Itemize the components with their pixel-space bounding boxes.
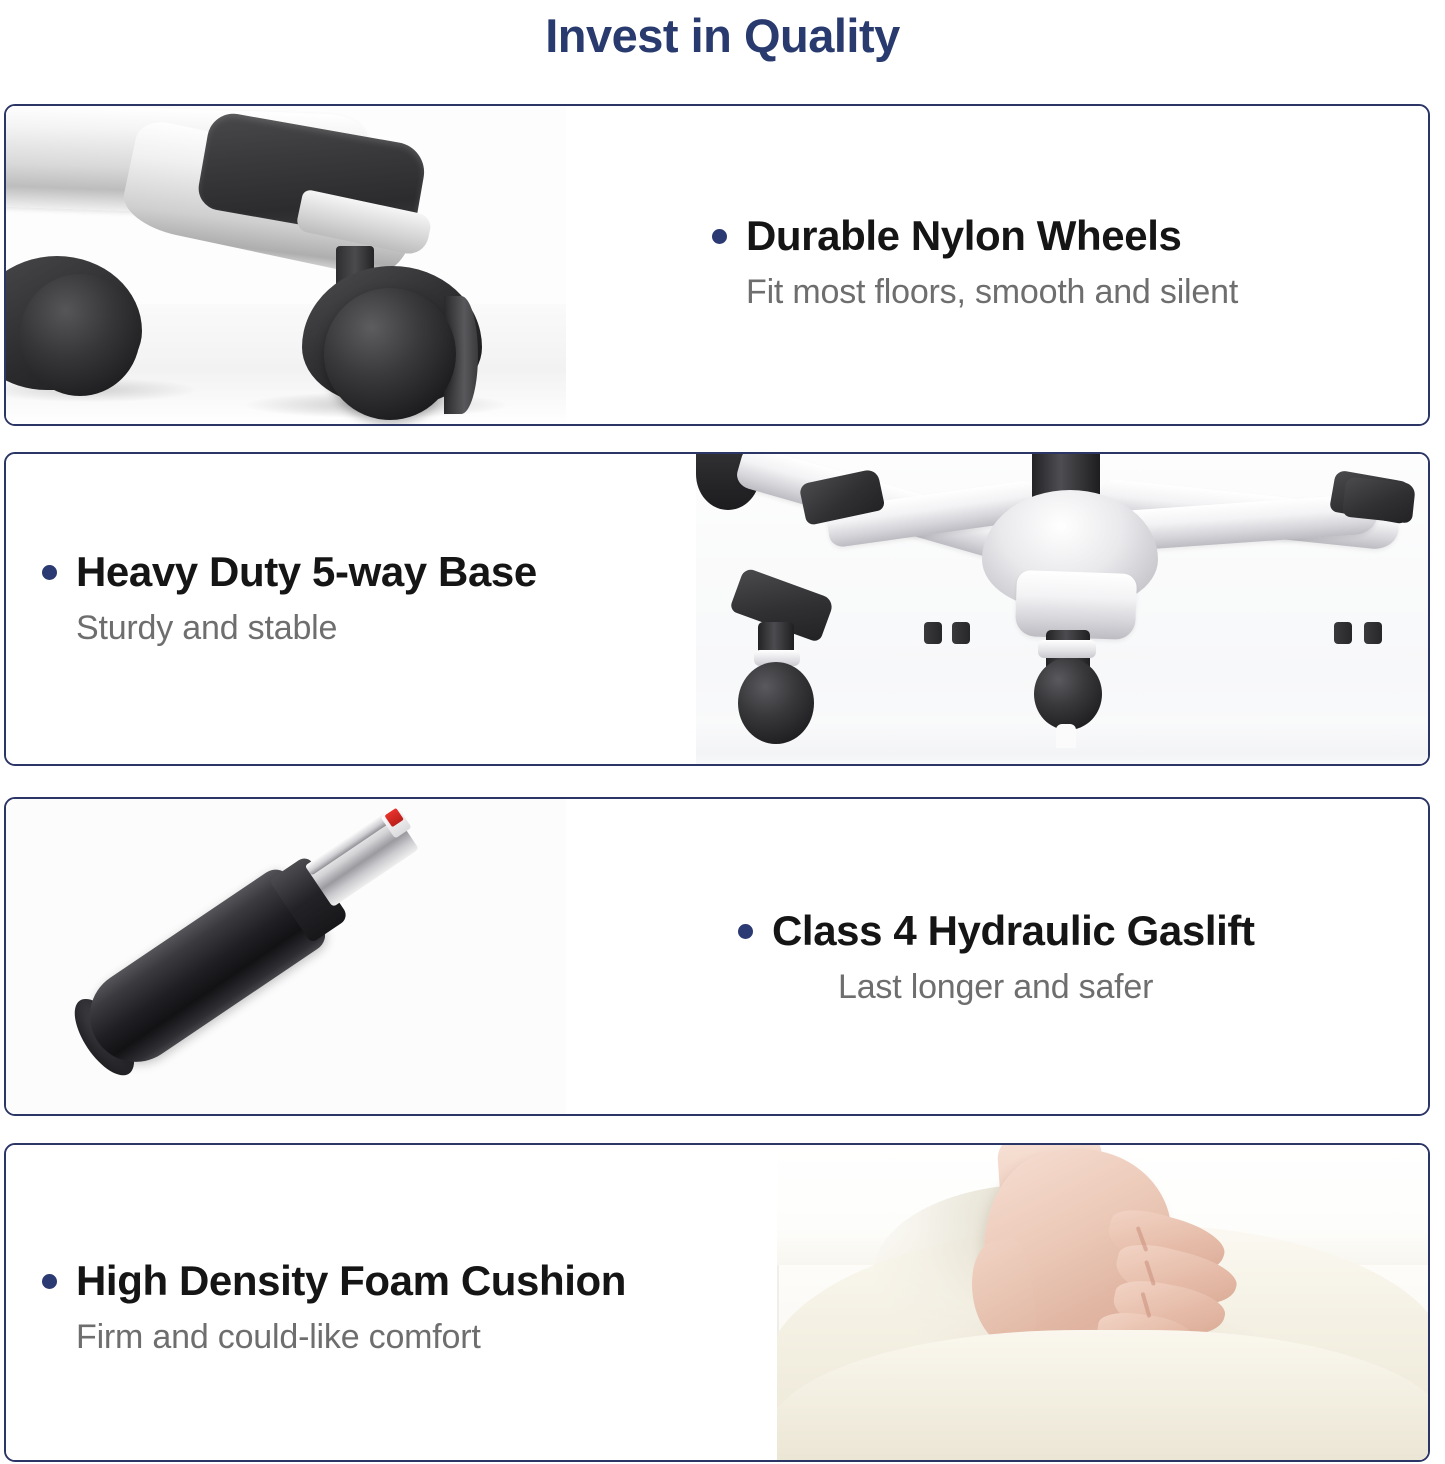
feature-card-durable-nylon-wheels: Durable Nylon Wheels Fit most floors, sm… <box>4 104 1430 426</box>
page-title: Invest in Quality <box>0 2 1445 70</box>
bullet-point-icon <box>42 1274 57 1289</box>
feature-subline: Sturdy and stable <box>76 609 537 648</box>
feature-text-hydraulic-gaslift: Class 4 Hydraulic Gaslift Last longer an… <box>738 907 1255 1007</box>
feature-card-foam-cushion: High Density Foam Cushion Firm and could… <box>4 1143 1430 1462</box>
gas-lift-cylinder-photo <box>6 799 566 1114</box>
feature-headline: Class 4 Hydraulic Gaslift <box>772 907 1255 955</box>
memory-foam-hand-photo <box>777 1145 1428 1460</box>
caster-wheel-photo <box>6 106 566 424</box>
bullet-point-icon <box>42 565 57 580</box>
feature-card-hydraulic-gaslift: Class 4 Hydraulic Gaslift Last longer an… <box>4 797 1430 1116</box>
feature-text-heavy-duty-base: Heavy Duty 5-way Base Sturdy and stable <box>42 548 537 648</box>
bullet-point-icon <box>712 229 727 244</box>
feature-card-heavy-duty-base: Heavy Duty 5-way Base Sturdy and stable <box>4 452 1430 766</box>
feature-headline: Durable Nylon Wheels <box>746 212 1181 260</box>
five-way-base-photo <box>696 454 1430 766</box>
feature-subline: Last longer and safer <box>838 968 1255 1007</box>
bullet-point-icon <box>738 924 753 939</box>
feature-subline: Firm and could-like comfort <box>76 1318 626 1357</box>
feature-headline: High Density Foam Cushion <box>76 1257 626 1305</box>
infographic-page: Invest in Quality <box>0 0 1445 1464</box>
feature-headline: Heavy Duty 5-way Base <box>76 548 537 596</box>
feature-subline: Fit most floors, smooth and silent <box>746 273 1238 312</box>
feature-text-foam-cushion: High Density Foam Cushion Firm and could… <box>42 1257 626 1357</box>
feature-text-durable-nylon-wheels: Durable Nylon Wheels Fit most floors, sm… <box>712 212 1238 312</box>
